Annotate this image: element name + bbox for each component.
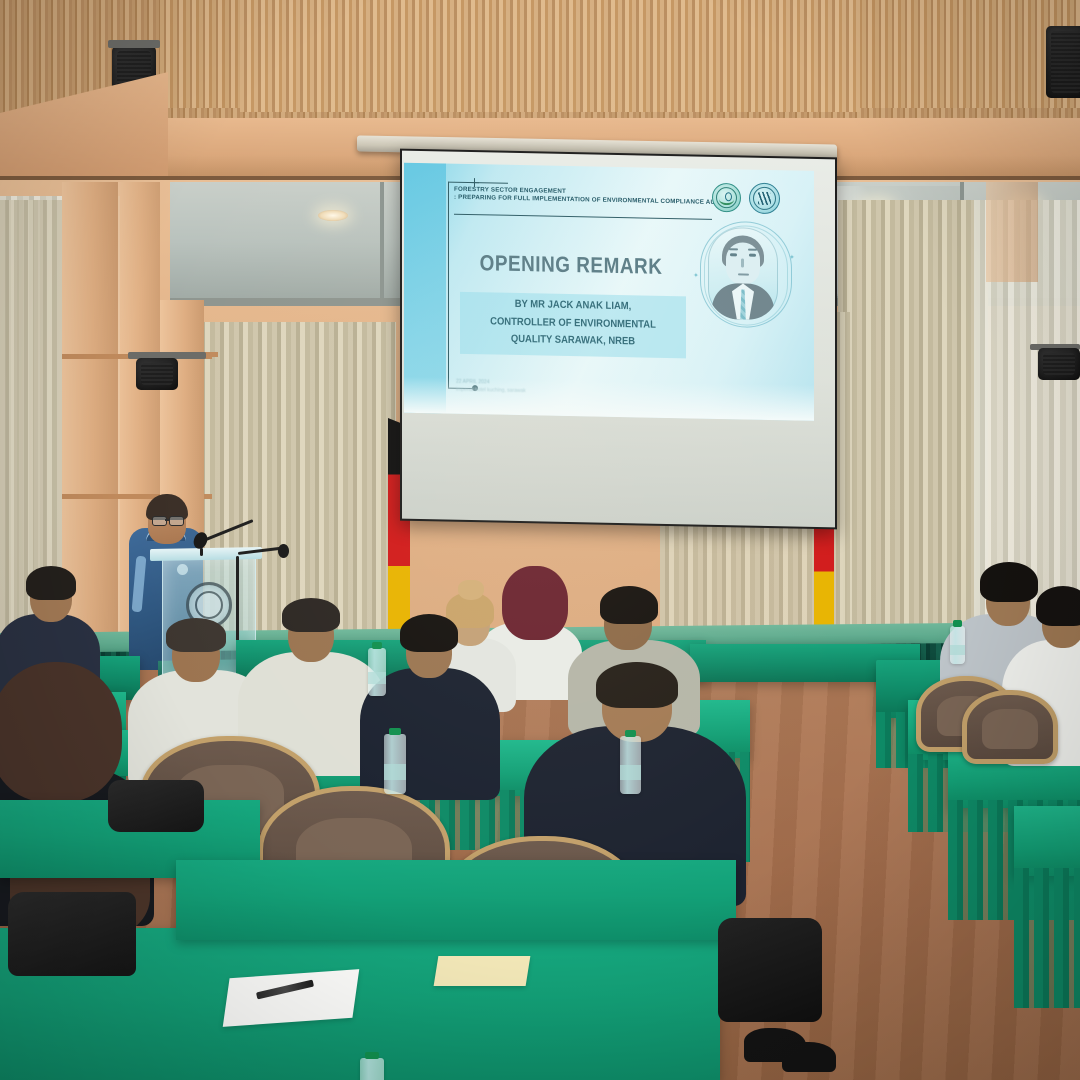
black-bag-on-table-2 — [108, 780, 204, 832]
water-bottle-foreground — [360, 1058, 384, 1080]
slide-subtitle: BY MR JACK ANAK LIAM, CONTROLLER OF ENVI… — [471, 295, 674, 352]
black-bag-on-table — [8, 892, 136, 976]
slide-tick-top-cross — [470, 182, 479, 183]
wall-speaker-right — [1046, 26, 1080, 98]
wooden-slat-wall-center — [240, 0, 860, 112]
presenter-eyeglasses-bridge — [165, 519, 170, 521]
nreb-logo-icon — [712, 183, 741, 213]
wall-speaker-mid — [136, 358, 178, 390]
water-bottle-2 — [384, 734, 406, 794]
wall-speaker-left-bracket — [108, 40, 160, 48]
foreground-table-upper — [176, 860, 736, 940]
wall-speaker-mid-right — [1038, 348, 1080, 380]
curtain-right — [838, 200, 988, 660]
presenter-eyeglasses-left — [152, 516, 167, 526]
white-paper-sheet — [223, 969, 360, 1027]
wall-pilaster-right — [986, 182, 1038, 282]
water-bottle-3 — [620, 736, 641, 794]
water-bottle-4 — [950, 626, 965, 664]
projection-screen: FORESTRY SECTOR ENGAGEMENT : PREPARING F… — [400, 149, 837, 530]
conference-hall-photo: FORESTRY SECTOR ENGAGEMENT : PREPARING F… — [0, 0, 1080, 1080]
backpack-on-floor — [718, 918, 822, 1022]
slide-header: FORESTRY SECTOR ENGAGEMENT : PREPARING F… — [454, 186, 754, 208]
banquet-chair-right-2 — [962, 690, 1058, 764]
microphone-stem-a — [200, 548, 203, 556]
speaker-portrait-illustration — [708, 227, 778, 320]
portrait-sparkle-left: ✦ — [693, 272, 699, 279]
slide-rule-header-underline — [454, 214, 712, 220]
projected-slide: FORESTRY SECTOR ENGAGEMENT : PREPARING F… — [404, 163, 814, 421]
slide-title: OPENING REMARK — [464, 250, 679, 280]
portrait-sparkle-right: ✦ — [789, 254, 795, 261]
table-right-4 — [1014, 806, 1080, 876]
microphone-head-b — [278, 544, 289, 558]
water-bottle-1 — [368, 648, 386, 696]
clerestory-mullion — [380, 182, 384, 302]
table-right-4-skirt — [1014, 868, 1080, 1008]
shoe-2 — [782, 1042, 836, 1072]
cream-card — [434, 956, 531, 986]
ceiling-downlight — [318, 210, 348, 221]
presenter-eyeglasses-right — [169, 516, 184, 526]
slide-rule-vertical — [448, 182, 449, 388]
department-logo-icon — [749, 183, 780, 215]
